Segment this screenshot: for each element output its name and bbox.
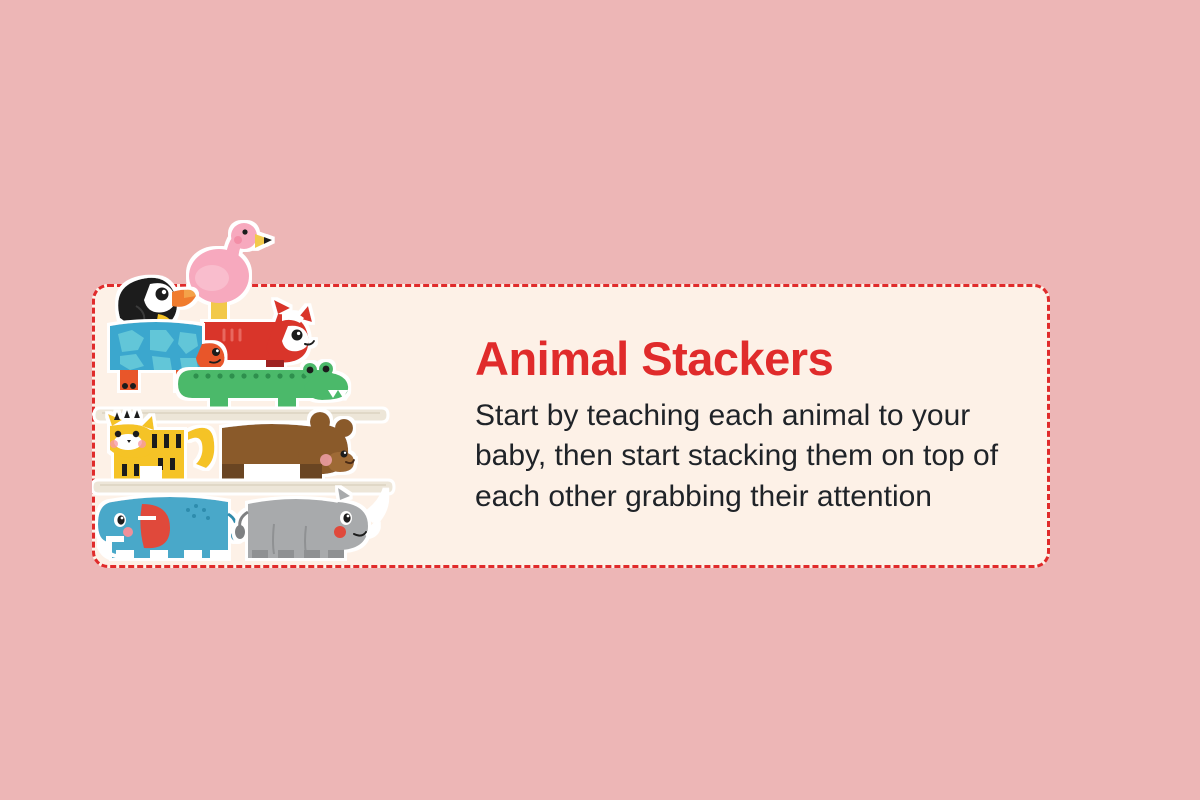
page-title: Animal Stackers bbox=[475, 335, 1007, 382]
crocodile-block-icon bbox=[178, 362, 348, 412]
turtle-block-icon bbox=[110, 322, 225, 390]
elephant-block-icon bbox=[98, 497, 241, 558]
flamingo-block-icon bbox=[189, 223, 272, 332]
animal-stack-svg bbox=[92, 214, 422, 574]
wooden-plank bbox=[92, 480, 394, 494]
bear-block-icon bbox=[222, 412, 354, 482]
rhino-block-icon bbox=[235, 488, 386, 558]
fox-block-icon bbox=[173, 300, 315, 378]
card-text-column: Animal Stackers Start by teaching each a… bbox=[425, 335, 1047, 517]
card-description: Start by teaching each animal to your ba… bbox=[475, 396, 1005, 517]
tiger-block-icon bbox=[108, 410, 214, 482]
wooden-plank bbox=[94, 408, 388, 422]
animal-stacker-toy-illustration bbox=[92, 214, 422, 574]
toucan-block-icon bbox=[118, 278, 196, 331]
